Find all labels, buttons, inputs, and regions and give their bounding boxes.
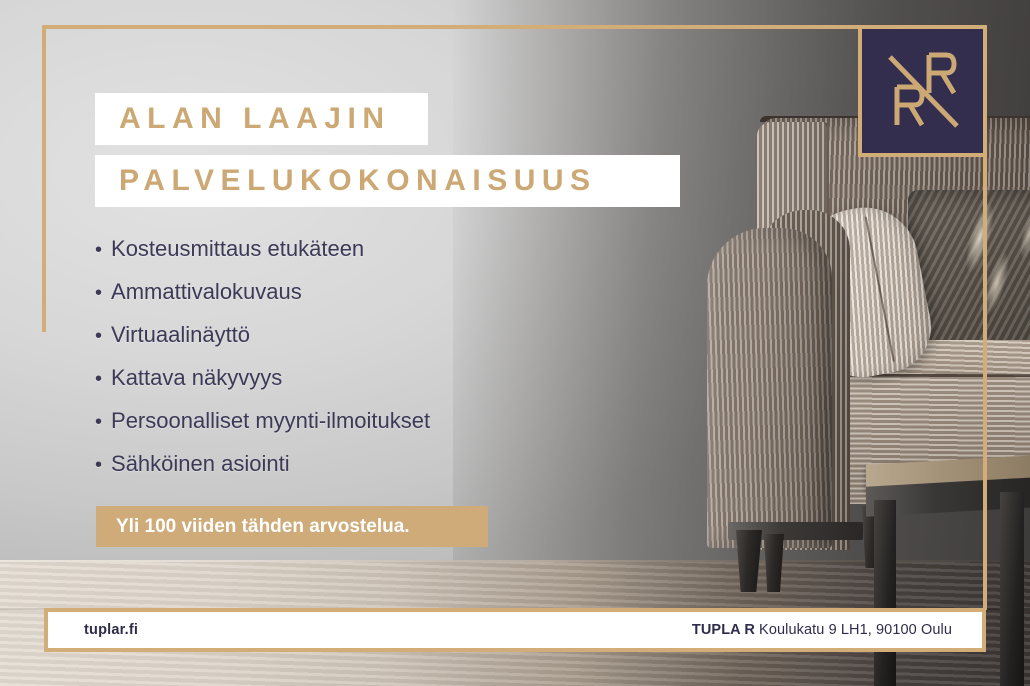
sofa-near-armrest (707, 228, 832, 548)
list-item: • Virtuaalinäyttö (95, 324, 615, 346)
side-table-leg-left (874, 500, 896, 686)
company-address: TUPLA R Koulukatu 9 LH1, 90100 Oulu (692, 622, 952, 638)
list-item-label: Ammattivalokuvaus (111, 281, 302, 303)
feature-list: • Kosteusmittaus etukäteen • Ammattivalo… (95, 238, 615, 496)
reviews-badge: Yli 100 viiden tähden arvostelua. (96, 506, 488, 547)
list-item-label: Kattava näkyvyys (111, 367, 282, 389)
list-item: • Kosteusmittaus etukäteen (95, 238, 615, 260)
bullet-dot-icon: • (95, 412, 102, 432)
double-r-monogram-icon (862, 29, 983, 153)
company-name: TUPLA R (692, 622, 755, 638)
pillow-seam (865, 216, 895, 361)
frame-line-top (42, 25, 860, 29)
side-table-leg-right (1000, 492, 1024, 686)
list-item: • Persoonalliset myynti-ilmoitukset (95, 410, 615, 432)
list-item: • Ammattivalokuvaus (95, 281, 615, 303)
bullet-dot-icon: • (95, 283, 102, 303)
list-item-label: Persoonalliset myynti-ilmoitukset (111, 410, 430, 432)
list-item-label: Kosteusmittaus etukäteen (111, 238, 364, 260)
bullet-dot-icon: • (95, 326, 102, 346)
frame-line-right (983, 155, 987, 610)
footer-bar: tuplar.fi TUPLA R Koulukatu 9 LH1, 90100… (44, 608, 986, 652)
website-link[interactable]: tuplar.fi (84, 622, 138, 638)
list-item: • Sähköinen asiointi (95, 453, 615, 475)
address-text: Koulukatu 9 LH1, 90100 Oulu (759, 622, 952, 638)
brand-logo[interactable] (858, 25, 987, 157)
list-item-label: Virtuaalinäyttö (111, 324, 250, 346)
advertisement-banner: ALAN LAAJIN PALVELUKOKONAISUUS • Kosteus… (0, 0, 1030, 686)
headline-line-2: PALVELUKOKONAISUUS (95, 155, 680, 207)
bullet-dot-icon: • (95, 455, 102, 475)
headline-line-1: ALAN LAAJIN (95, 93, 428, 145)
list-item-label: Sähköinen asiointi (111, 453, 290, 475)
bullet-dot-icon: • (95, 369, 102, 389)
frame-line-left (42, 25, 46, 332)
bullet-dot-icon: • (95, 240, 102, 260)
list-item: • Kattava näkyvyys (95, 367, 615, 389)
